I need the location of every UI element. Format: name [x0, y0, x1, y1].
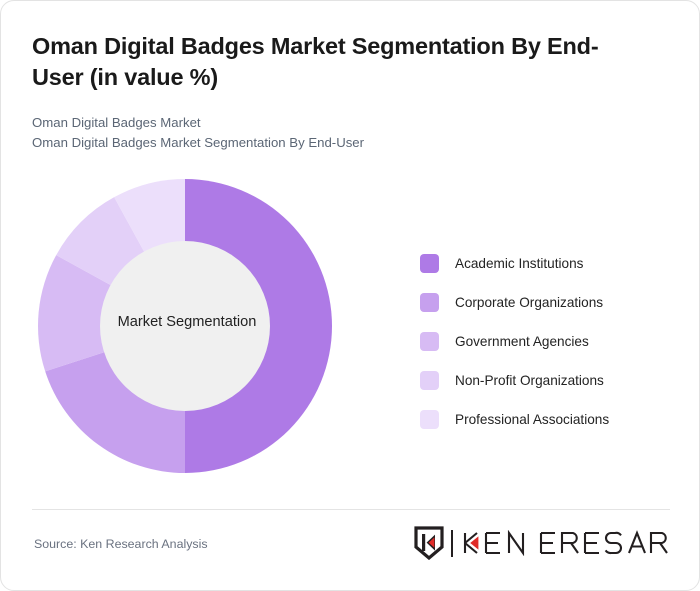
legend-item[interactable]: Corporate Organizations — [420, 283, 670, 322]
donut-wrap — [32, 169, 342, 484]
legend-label: Corporate Organizations — [455, 295, 603, 310]
legend-label: Government Agencies — [455, 334, 589, 349]
legend-label: Professional Associations — [455, 412, 609, 427]
legend-item[interactable]: Non-Profit Organizations — [420, 361, 670, 400]
ken-research-wordmark — [461, 530, 669, 556]
page-title: Oman Digital Badges Market Segmentation … — [32, 31, 644, 92]
legend-swatch — [420, 410, 439, 429]
legend-item[interactable]: Government Agencies — [420, 322, 670, 361]
chart-card: Oman Digital Badges Market Segmentation … — [0, 0, 700, 591]
legend-swatch — [420, 254, 439, 273]
legend-swatch — [420, 332, 439, 351]
footer-divider — [32, 509, 670, 510]
legend-swatch — [420, 371, 439, 390]
legend-swatch — [420, 293, 439, 312]
subtitle-block: Oman Digital Badges Market Oman Digital … — [32, 113, 364, 154]
ken-research-shield-icon — [414, 526, 444, 560]
subtitle-segmentation: Oman Digital Badges Market Segmentation … — [32, 133, 364, 153]
legend-label: Academic Institutions — [455, 256, 583, 271]
donut-chart: Market Segmentation — [32, 169, 342, 484]
source-note: Source: Ken Research Analysis — [34, 537, 208, 551]
logo-divider — [451, 530, 453, 557]
legend-item[interactable]: Professional Associations — [420, 400, 670, 439]
subtitle-market: Oman Digital Badges Market — [32, 113, 364, 133]
donut-svg — [32, 169, 342, 484]
chart-legend: Academic InstitutionsCorporate Organizat… — [420, 244, 670, 439]
donut-hole — [100, 241, 270, 411]
legend-label: Non-Profit Organizations — [455, 373, 604, 388]
ken-research-logo — [414, 525, 669, 561]
legend-item[interactable]: Academic Institutions — [420, 244, 670, 283]
